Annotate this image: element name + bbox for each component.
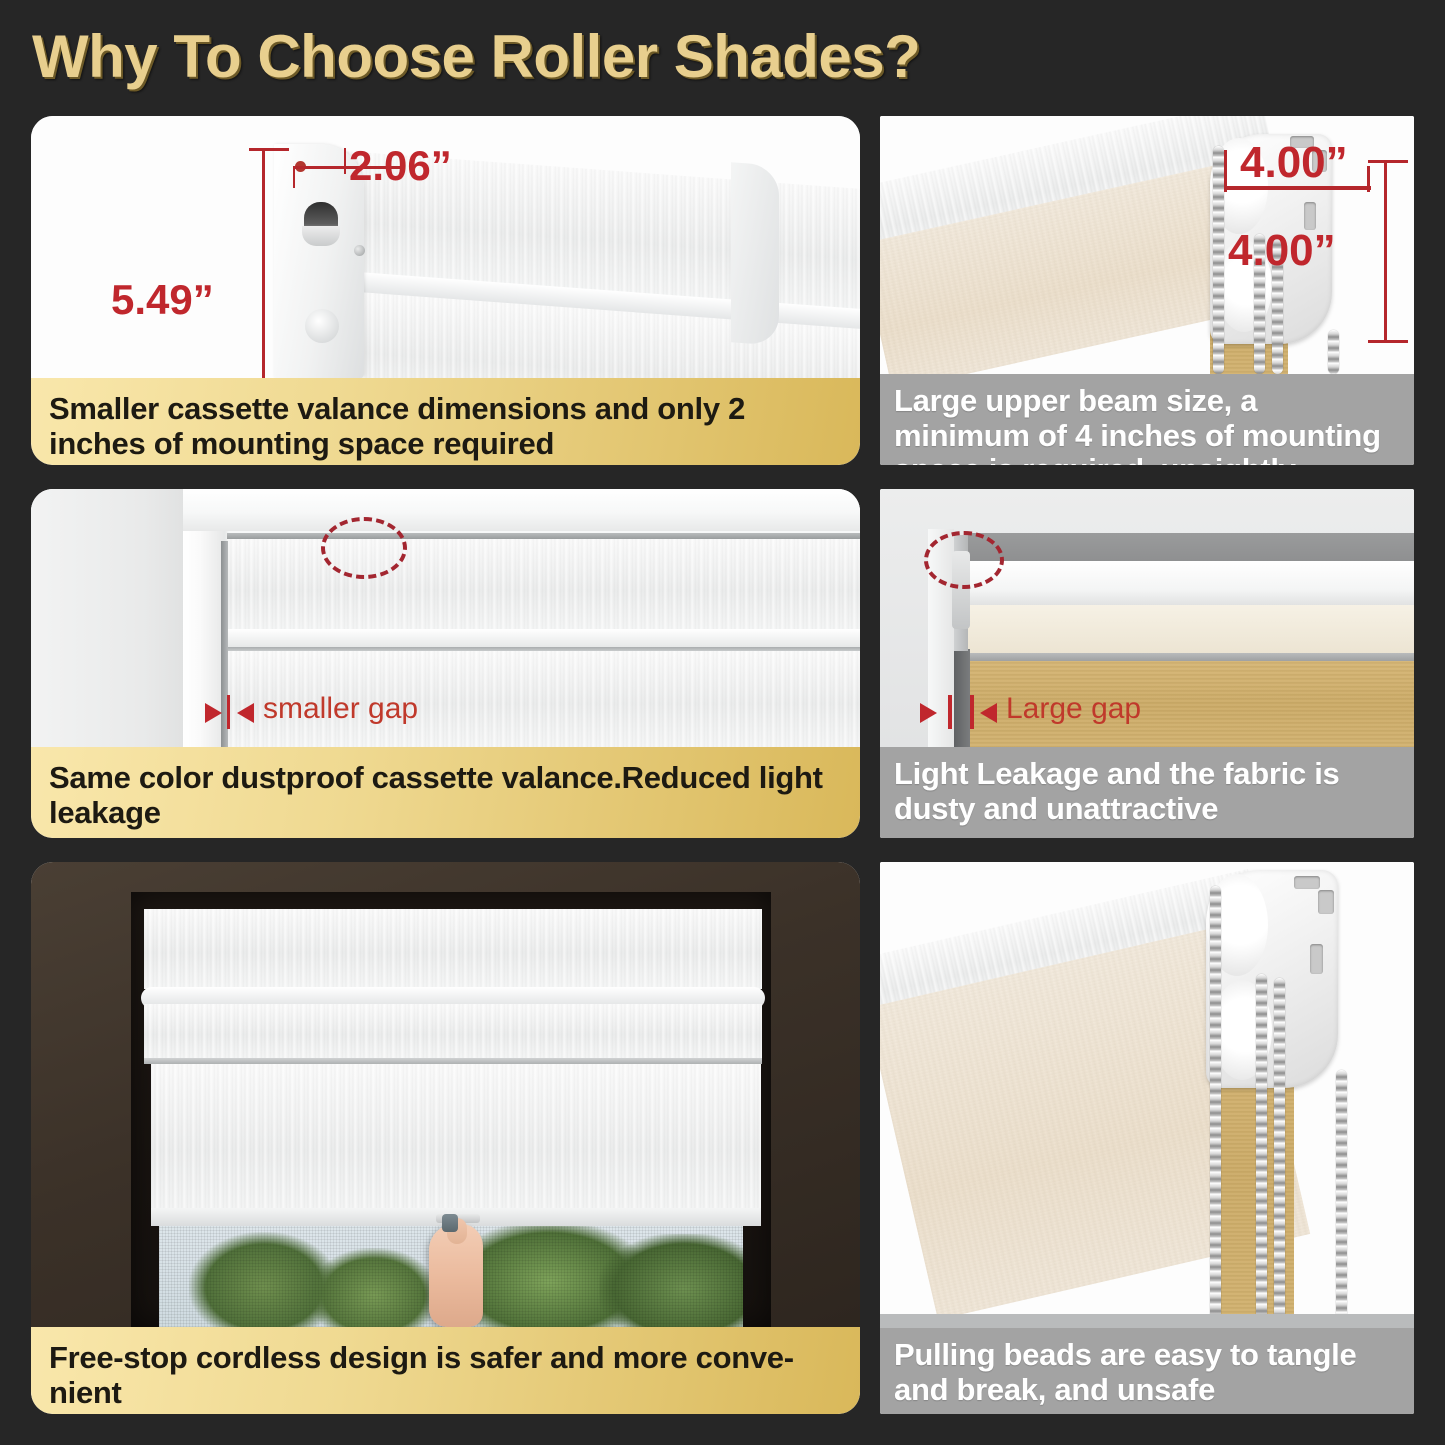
shade-fabric-main xyxy=(151,1064,761,1222)
dim-width-tick-left xyxy=(293,166,295,188)
caption-text: Large upper beam size, a minimum of 4 in… xyxy=(894,384,1400,465)
caption-pulling-beads: Pulling beads are easy to tangle and bre… xyxy=(880,1328,1414,1414)
wall-surface xyxy=(31,489,191,747)
infographic-root: Why To Choose Roller Shades? xyxy=(0,0,1445,1445)
bead-chain-2 xyxy=(1256,974,1267,1328)
valance-cream-strip xyxy=(968,605,1414,655)
valance-bottom-lip xyxy=(227,629,860,649)
valance-edge-line xyxy=(968,653,1414,661)
caption-large-upper-beam: Large upper beam size, a minimum of 4 in… xyxy=(880,374,1414,465)
dim-beam-height-line xyxy=(1384,160,1387,342)
panel-dustproof-valance: smaller gap Same color dustproof cassett… xyxy=(31,489,860,838)
gap-arrow-right xyxy=(237,703,254,723)
valance-head xyxy=(144,909,762,989)
caption-dustproof-valance: Same color dustproof cassette valance.Re… xyxy=(31,747,860,838)
caption-text: Light Leakage and the fabric is dusty an… xyxy=(894,757,1400,826)
dim-label-beam-width: 4.00” xyxy=(1240,138,1348,188)
gap-marker-line-b xyxy=(970,695,974,729)
caption-cassette-dimensions: Smaller cassette valance dimensions and … xyxy=(31,378,860,465)
dim-label-width: 2.06” xyxy=(349,142,452,190)
endcap-screw xyxy=(354,245,365,256)
gap-label-large: Large gap xyxy=(1006,692,1141,726)
dim-height-line xyxy=(262,148,265,378)
caption-text: Pulling beads are easy to tangle and bre… xyxy=(894,1338,1400,1407)
dim-label-height: 5.49” xyxy=(111,276,214,324)
valance-lower-band xyxy=(144,1004,762,1060)
caption-text: Same color dustproof cassette valance.Re… xyxy=(49,761,842,830)
bead-chain-4 xyxy=(1328,330,1339,374)
caption-text: Free-stop cordless design is safer and m… xyxy=(49,1341,842,1410)
valance-white xyxy=(968,561,1414,609)
photo-cassette-valance: 2.06” 5.49” xyxy=(31,116,860,378)
panel-large-upper-beam: 4.00” 4.00” Large upper beam size, a min… xyxy=(880,116,1414,465)
photo-cordless-window xyxy=(31,862,860,1327)
panel-cordless-design: Free-stop cordless design is safer and m… xyxy=(31,862,860,1414)
dim-beam-height-tick-bottom xyxy=(1368,340,1408,343)
gap-marker-line xyxy=(227,695,230,729)
window-head xyxy=(183,489,860,531)
gap-marker-line-a xyxy=(948,695,952,729)
bracket-slot-1 xyxy=(1318,890,1334,914)
endcap-screw-boss xyxy=(305,309,339,343)
large-gap-strip xyxy=(954,649,970,747)
bead-chain-1 xyxy=(1210,886,1221,1328)
dim-width-tick-right xyxy=(344,148,346,174)
caption-cordless-design: Free-stop cordless design is safer and m… xyxy=(31,1327,860,1414)
photo-dustproof-valance: smaller gap xyxy=(31,489,860,747)
photo-light-leakage: Large gap xyxy=(880,489,1414,747)
endcap-slot-rim xyxy=(302,226,340,246)
panel-pulling-beads: Pulling beads are easy to tangle and bre… xyxy=(880,862,1414,1414)
bracket-slot-2 xyxy=(1310,944,1323,974)
highlight-ellipse xyxy=(321,517,407,579)
dim-height-tick-top xyxy=(249,148,289,151)
floor-strip xyxy=(880,1314,1414,1328)
gap-arrow-left xyxy=(920,703,937,723)
gap-label-smaller: smaller gap xyxy=(263,692,418,726)
highlight-ellipse xyxy=(924,531,1004,589)
dim-beam-width-tick-right xyxy=(1367,166,1370,192)
bead-chain-1 xyxy=(1213,146,1224,374)
page-title: Why To Choose Roller Shades? xyxy=(32,18,1032,96)
gap-arrow-right xyxy=(980,703,997,723)
panel-cassette-dimensions: 2.06” 5.49” Smaller cassette valance dim… xyxy=(31,116,860,465)
grip-pull xyxy=(442,1214,458,1232)
gap-arrow-left xyxy=(205,703,222,723)
caption-text: Smaller cassette valance dimensions and … xyxy=(49,392,842,461)
caption-light-leakage: Light Leakage and the fabric is dusty an… xyxy=(880,747,1414,838)
bead-chain-3 xyxy=(1274,978,1285,1328)
photo-pulling-beads xyxy=(880,862,1414,1328)
bracket-slot-3 xyxy=(1294,876,1320,889)
panel-light-leakage: Large gap Light Leakage and the fabric i… xyxy=(880,489,1414,838)
valance-right-cap xyxy=(731,162,779,346)
bead-chain-4 xyxy=(1336,1070,1347,1328)
photo-large-beam: 4.00” 4.00” xyxy=(880,116,1414,374)
dim-beam-height-tick-top xyxy=(1368,160,1408,163)
dim-label-beam-height: 4.00” xyxy=(1228,226,1336,276)
